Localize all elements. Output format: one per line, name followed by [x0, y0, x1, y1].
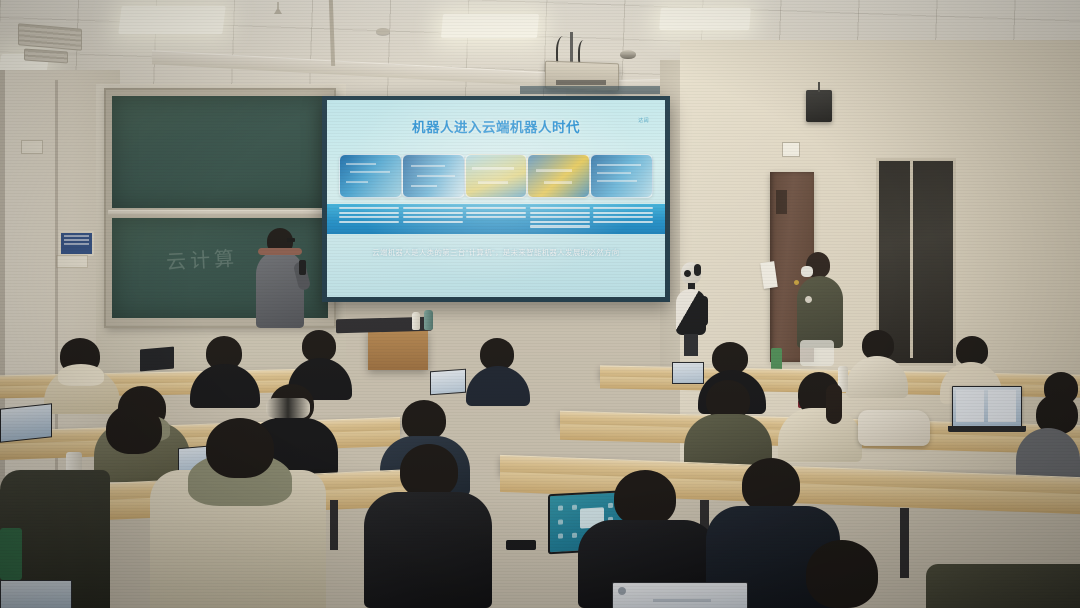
presenter-collar	[258, 248, 302, 255]
chalk-writing: 云计算	[165, 242, 238, 275]
blackboard-rail	[108, 210, 332, 216]
door-window	[776, 190, 787, 214]
foreground-student-head	[400, 444, 458, 498]
green-bottle-foreground	[0, 528, 22, 580]
podium	[368, 330, 428, 370]
laptop-far-2[interactable]	[430, 369, 466, 396]
desk-leg	[330, 500, 338, 550]
foreground-student-head	[106, 404, 162, 454]
wall-control-panel[interactable]	[59, 231, 94, 256]
robot-head-side	[694, 264, 701, 276]
screen-roller-case	[520, 86, 660, 94]
laptop-mid-3[interactable]	[952, 386, 1022, 428]
scarf	[266, 398, 310, 418]
laptop-far-3[interactable]	[672, 362, 704, 384]
hoodie-logo	[805, 296, 812, 303]
window-mullion	[910, 160, 913, 358]
microphone[interactable]	[299, 260, 306, 275]
ceiling-light-3	[659, 8, 751, 30]
slide-title: 机器人进入云端机器人时代	[327, 116, 665, 136]
slide-caption: 云端机器人是人类的第三台“计算机”，是未来智能机器人发展的必然方向	[327, 248, 665, 258]
foreground-student-head	[742, 458, 800, 512]
standing-person-torso	[797, 276, 843, 348]
student-head	[402, 400, 446, 440]
robot-eye	[684, 270, 691, 277]
slide-thumbnail	[527, 154, 590, 198]
foreground-student-head	[206, 418, 274, 478]
ceiling-light-1	[118, 6, 225, 34]
robot-base	[684, 334, 698, 356]
laptop-bottom-left[interactable]	[0, 580, 72, 608]
slide-band-column	[403, 207, 463, 234]
slide-thumbnail	[590, 154, 653, 198]
ceiling-light-2	[441, 14, 539, 38]
foreground-student-head	[614, 470, 676, 526]
plastic-bag	[800, 340, 834, 366]
backpack-white	[858, 410, 930, 446]
door-knob[interactable]	[794, 280, 799, 285]
ponytail	[826, 384, 842, 424]
foreground-arm-olive	[926, 564, 1080, 608]
wall-speaker	[806, 90, 832, 122]
wall-label-plate	[56, 255, 88, 268]
foreground-student-head	[806, 540, 878, 608]
slide-thumbnail-row	[339, 154, 653, 198]
foreground-student-torso	[364, 492, 492, 608]
slide-thumbnail	[465, 154, 528, 198]
wall-outlet	[21, 140, 43, 154]
phone-on-desk[interactable]	[506, 540, 536, 550]
laptop-far-1[interactable]	[140, 347, 174, 372]
laptop-base-3	[948, 426, 1026, 432]
presentation-slide: 机器人进入云端机器人时代 达闼	[327, 100, 665, 297]
projection-screen: 机器人进入云端机器人时代 达闼	[322, 96, 670, 302]
thermos-bottle	[424, 310, 433, 330]
blackboard-panel-upper	[112, 96, 328, 208]
robot-arm	[700, 296, 708, 326]
slide-thumbnail	[402, 154, 465, 198]
slide-band-column	[339, 207, 399, 234]
dome-camera	[620, 50, 636, 59]
student-torso	[778, 408, 862, 462]
laptop-foreground[interactable]	[612, 582, 748, 608]
smoke-detector	[376, 28, 390, 35]
presenter-glasses	[287, 238, 295, 242]
lecture-hall-photo: 云计算 机器人进入云端机器人时代 达闼	[0, 0, 1080, 608]
face-mask	[801, 266, 813, 277]
hood	[58, 364, 104, 386]
wall-sign	[782, 142, 800, 157]
laptop-mid-1[interactable]	[0, 403, 52, 442]
slide-thumbnail	[339, 154, 402, 198]
water-bottle	[412, 312, 420, 330]
projector-vent	[556, 80, 606, 85]
slide-info-band	[327, 204, 665, 234]
desk-leg	[900, 508, 909, 578]
slide-band-column	[530, 207, 590, 234]
slide-logo: 达闼	[638, 117, 649, 124]
slide-band-column	[593, 207, 653, 234]
student-torso	[466, 366, 530, 406]
slide-band-column	[466, 207, 526, 234]
speaker-bracket	[818, 82, 820, 92]
